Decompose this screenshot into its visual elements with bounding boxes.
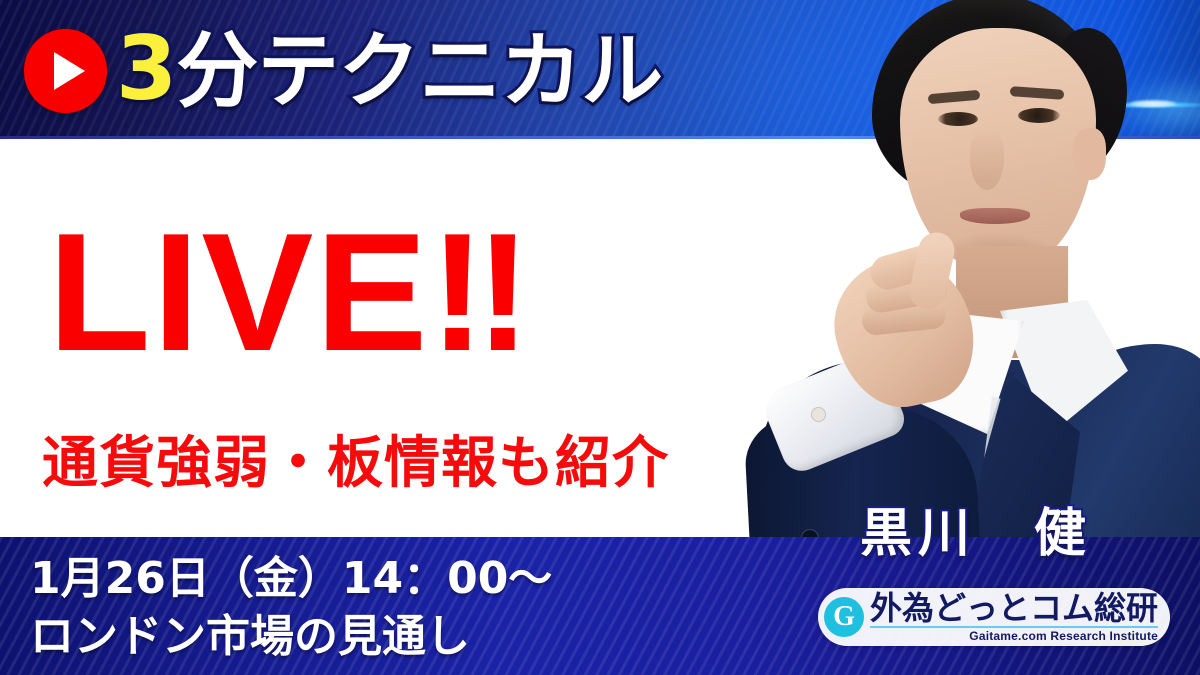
headline-live: LIVE‼ xyxy=(48,208,533,376)
brand-logo[interactable]: G 外為どっとコム総研 Gaitame.com Research Institu… xyxy=(818,588,1170,646)
footer-line-topic: ロンドン市場の見通し xyxy=(30,608,552,666)
logo-english-name: Gaitame.com Research Institute xyxy=(870,630,1158,642)
title-rest: 分テクニカル xyxy=(176,24,662,119)
subtitle-text: 通貨強弱・板情報も紹介 xyxy=(42,432,669,496)
presenter-name: 黒川 健 xyxy=(860,505,1092,563)
footer-text: 1月26日（金）14：00〜 ロンドン市場の見通し xyxy=(30,550,552,666)
gaitame-g-icon: G xyxy=(824,597,864,637)
logo-japanese-name: 外為どっとコム総研 xyxy=(870,592,1158,624)
title-number: 3 xyxy=(116,17,176,120)
thumbnail-canvas: 3分テクニカル LIVE‼ 通貨強弱・板情報も紹介 xyxy=(0,0,1200,675)
page-title: 3分テクニカル xyxy=(116,14,662,127)
lens-flare-core xyxy=(1130,100,1176,107)
logo-divider xyxy=(870,626,1158,628)
footer-line-date: 1月26日（金）14：00〜 xyxy=(30,550,552,608)
play-triangle-icon xyxy=(54,52,85,90)
play-circle-icon[interactable] xyxy=(24,29,107,113)
